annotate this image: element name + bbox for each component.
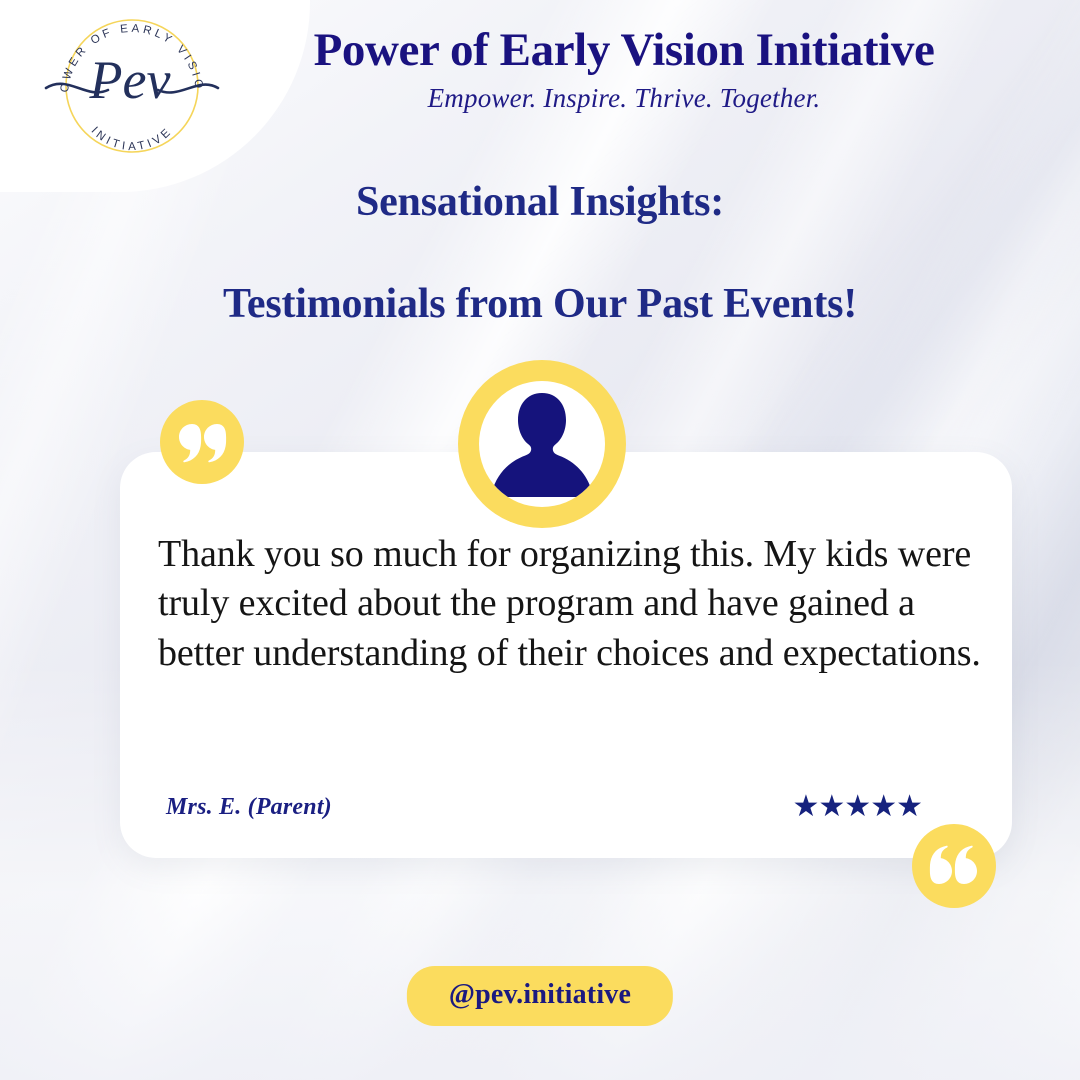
brand-tagline: Empower. Inspire. Thrive. Together. [224,83,1024,114]
avatar-inner [479,381,605,507]
pev-logo-icon: POWER OF EARLY VISION INITIATIVE Pev [42,12,222,160]
star-rating: ★★★★★ [793,792,922,822]
social-handle-text: @pev.initiative [449,979,631,1011]
headline-primary: Sensational Insights: [0,178,1080,226]
avatar [458,360,626,528]
quote-open-badge [160,400,244,484]
quote-open-icon [160,400,244,484]
brand-text-block: Power of Early Vision Initiative Empower… [224,24,1024,114]
testimonial-poster: POWER OF EARLY VISION INITIATIVE Pev Pow… [0,0,1080,1080]
svg-text:Pev: Pev [89,50,171,110]
page-title: Power of Early Vision Initiative [224,24,1024,77]
testimonial-footer: Mrs. E. (Parent) ★★★★★ [166,792,922,822]
social-handle-badge[interactable]: @pev.initiative [407,966,673,1026]
svg-text:INITIATIVE: INITIATIVE [89,125,176,153]
quote-close-icon [912,824,996,908]
testimonial-attribution: Mrs. E. (Parent) [166,794,332,821]
testimonial-quote-text: Thank you so much for organizing this. M… [158,530,986,678]
headline-block: Sensational Insights: Testimonials from … [0,178,1080,328]
headline-secondary: Testimonials from Our Past Events! [0,280,1080,328]
quote-close-badge [912,824,996,908]
brand-logo: POWER OF EARLY VISION INITIATIVE Pev [42,12,222,160]
user-silhouette-icon [479,381,605,507]
header: POWER OF EARLY VISION INITIATIVE Pev Pow… [0,0,1080,170]
